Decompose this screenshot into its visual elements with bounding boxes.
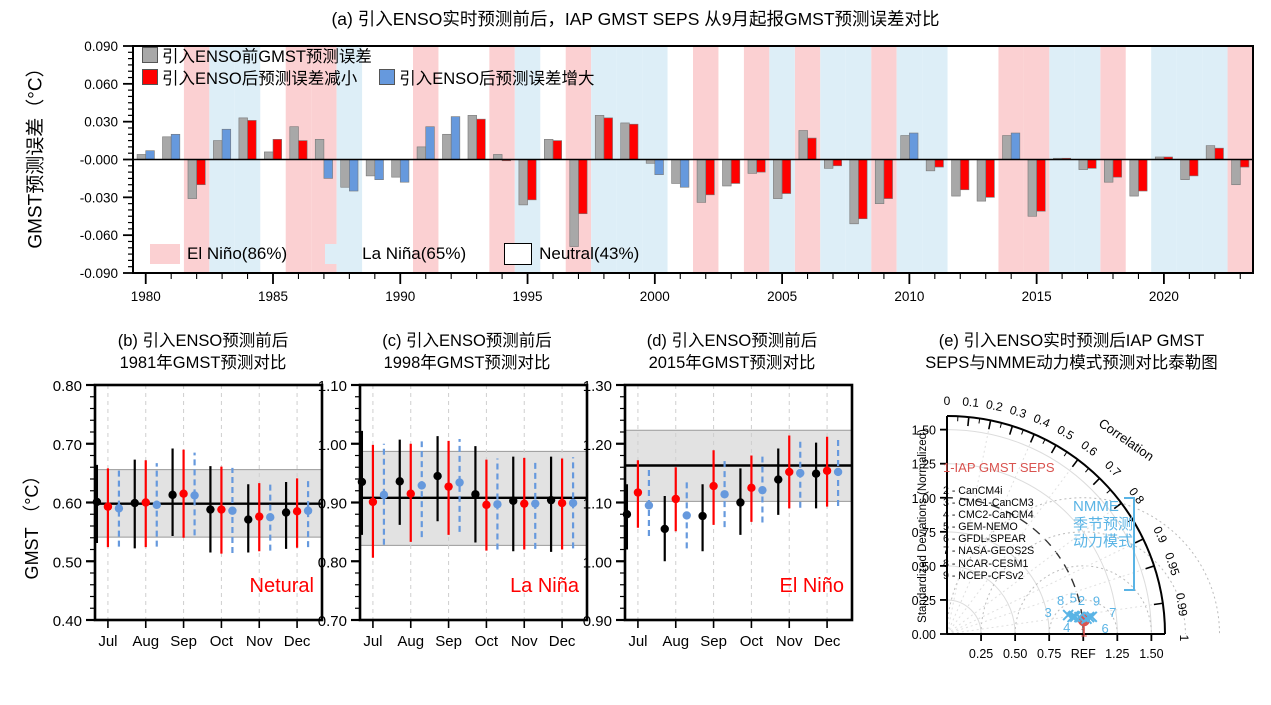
model-item: 6 - GFDL-SPEAR [943, 533, 1034, 545]
corr-tick-label: 0 [944, 394, 951, 408]
model-item: 3 - CMC1-CanCM3 [943, 497, 1034, 509]
bar-after [222, 129, 231, 159]
bar-after [273, 139, 282, 159]
bar-after [146, 151, 155, 160]
data-point [380, 491, 388, 499]
bar-after [884, 160, 893, 199]
bar-after [400, 160, 409, 183]
data-point [190, 491, 198, 499]
bar-before [290, 127, 299, 160]
data-point [444, 482, 452, 490]
y-tick-label: 1.00 [583, 554, 612, 571]
panel-b-title-line2: 1981年GMST预测对比 [78, 352, 328, 374]
y-tick-label: 1.10 [583, 496, 612, 513]
data-point [698, 512, 706, 520]
bar-after [655, 160, 664, 175]
corr-tick-label: 0.2 [985, 397, 1004, 414]
bar-after [1189, 160, 1198, 176]
panel-c-title-line2: 1998年GMST预测对比 [342, 352, 592, 374]
taylor-point-label: 1 [1080, 624, 1087, 639]
data-point [266, 513, 274, 521]
bar-after [909, 133, 918, 159]
bar-before [544, 139, 553, 159]
bar-before [188, 160, 197, 199]
y-tick-label: 1.10 [318, 378, 347, 395]
bar-after [833, 160, 842, 166]
y-tick-label: 1.00 [318, 437, 347, 454]
x-tick-label: Oct [475, 633, 499, 650]
x-tick-label: 1980 [131, 289, 161, 304]
data-point [509, 497, 517, 505]
panel-e-title-line2: SEPS与NMME动力模式预测对比泰勒图 [872, 352, 1271, 374]
y-tick-label: -0.060 [80, 228, 118, 243]
bar-before [213, 141, 222, 160]
taylor-point-label: 5 [1070, 591, 1077, 606]
legend-label-neutral: Neutral(43%) [539, 244, 639, 264]
bar-before [850, 160, 859, 224]
bar-before [1206, 146, 1215, 160]
corr-tick-label: 0.3 [1008, 403, 1028, 421]
bar-before [595, 115, 604, 159]
corr-tick-label: 0.99 [1173, 592, 1190, 617]
legend-label-reduced: 引入ENSO后预测误差减小 [162, 65, 357, 89]
legend-swatch-elnino [150, 244, 180, 264]
bar-after [604, 118, 613, 160]
y-tick-label: 0.030 [84, 115, 118, 130]
bar-after [477, 119, 486, 159]
legend-swatch-increased [379, 69, 395, 85]
bar-after [782, 160, 791, 194]
data-point [493, 500, 501, 508]
nmme-line3: 动力模式 [1073, 533, 1133, 551]
data-point [396, 477, 404, 485]
radial-tick-label: 1.50 [1139, 647, 1163, 661]
bar-before [723, 160, 732, 186]
x-tick-label: Oct [210, 633, 234, 650]
data-point [796, 469, 804, 477]
panel-e-taylor-diagram: 1.501.251.000.750.500.250.000.250.500.75… [872, 372, 1271, 672]
bar-after [375, 160, 384, 180]
data-point [255, 512, 263, 520]
corr-tick-label: 0.5 [1055, 423, 1077, 444]
corr-tick-label: 0.7 [1102, 458, 1124, 480]
radial-tick-label: REF [1071, 647, 1096, 661]
data-point [812, 470, 820, 478]
taylor-point-label: 6 [1101, 621, 1108, 636]
data-point [168, 491, 176, 499]
bar-before [443, 134, 452, 159]
bar-before [1181, 160, 1190, 180]
y-tick-label: 0.60 [53, 496, 82, 513]
y-tick-label: 0.70 [318, 613, 347, 630]
bar-before [1079, 160, 1088, 170]
bar-before [697, 160, 706, 203]
panel-e-ylabel: Standardized Deviations (Normalized) [917, 416, 929, 636]
data-point [774, 475, 782, 483]
panel-d-title: (d) 引入ENSO预测前后 2015年GMST预测对比 [607, 330, 857, 374]
radial-tick-label: 0.75 [1037, 647, 1061, 661]
y-tick-label: 0.80 [318, 554, 347, 571]
panel-e-highlight-label: 1-IAP GMST SEPS [943, 460, 1055, 475]
radial-tick-label: 1.25 [1105, 647, 1129, 661]
data-point [153, 501, 161, 509]
y-tick-label: 0.50 [53, 554, 82, 571]
y-tick-label: -0.000 [80, 153, 118, 168]
data-point [293, 507, 301, 515]
taylor-point-label: 2 [1078, 593, 1085, 608]
x-tick-label: Jul [98, 633, 117, 650]
bar-before [239, 118, 248, 160]
bar-before [1028, 160, 1037, 217]
data-point [758, 486, 766, 494]
correlation-axis-label: Correlation [1096, 415, 1157, 464]
y-tick-label: 0.90 [583, 613, 612, 630]
bar-before [672, 160, 681, 184]
bar-before [1104, 160, 1113, 183]
corr-tick-label: 0.1 [962, 394, 980, 410]
data-point [115, 504, 123, 512]
data-point [720, 490, 728, 498]
y-tick-label: 0.40 [53, 613, 82, 630]
bar-after [298, 141, 307, 160]
data-point [520, 499, 528, 507]
x-tick-label: 2005 [767, 289, 797, 304]
data-point [672, 495, 680, 503]
x-tick-label: Aug [662, 633, 689, 650]
bar-before [315, 139, 324, 159]
taylor-point-label: 7 [1109, 605, 1116, 620]
x-tick-label: 1990 [385, 289, 415, 304]
x-tick-label: Nov [776, 633, 803, 650]
bar-after [629, 124, 638, 159]
corr-tick-label: 0.6 [1078, 438, 1100, 459]
bar-after [1088, 160, 1097, 169]
data-point [736, 498, 744, 506]
legend-swatch-before [142, 47, 158, 63]
bar-before [1130, 160, 1139, 197]
y-tick-label: 0.80 [53, 378, 82, 395]
data-point [661, 525, 669, 533]
bar-after [528, 160, 537, 200]
panel-d-chart: 1.301.201.101.000.90JulAugSepOctNovDecEl… [570, 375, 860, 675]
y-tick-label: -0.030 [80, 190, 118, 205]
bar-before [799, 130, 808, 159]
bar-after [197, 160, 206, 185]
data-point [418, 481, 426, 489]
panel-c-chart: 1.101.000.900.800.70JulAugSepOctNovDecLa… [305, 375, 595, 675]
bar-before [621, 123, 630, 160]
std-arc [947, 600, 981, 634]
bar-after [706, 160, 715, 195]
panel-a-legend-bottom: El Niño(86%) La Niña(65%) Neutral(43%) [150, 243, 639, 265]
panel-d-title-line2: 2015年GMST预测对比 [607, 352, 857, 374]
panel-d-title-line1: (d) 引入ENSO预测前后 [607, 330, 857, 352]
bar-after [553, 141, 562, 160]
bar-after [171, 134, 180, 159]
bar-after [757, 160, 766, 173]
x-tick-label: Dec [814, 633, 841, 650]
bar-after [1113, 160, 1122, 178]
taylor-point-label: 9 [1093, 594, 1100, 609]
x-tick-label: 2000 [640, 289, 670, 304]
panel-c-title-line1: (c) 引入ENSO预测前后 [342, 330, 592, 352]
data-point [482, 501, 490, 509]
panel-e-model-list: 2 - CanCM4i 3 - CMC1-CanCM3 4 - CMC2-Can… [943, 485, 1034, 582]
panel-c-title: (c) 引入ENSO预测前后 1998年GMST预测对比 [342, 330, 592, 374]
bar-before [417, 147, 426, 160]
x-tick-label: Sep [170, 633, 197, 650]
corr-tick-label: 0.9 [1150, 524, 1170, 545]
bar-before [163, 137, 172, 160]
data-point [179, 489, 187, 497]
bar-after [1011, 133, 1020, 159]
data-point [634, 488, 642, 496]
y-tick-label: -0.090 [80, 266, 118, 281]
radial-tick-label: 0.50 [1003, 647, 1027, 661]
bar-before [977, 160, 986, 202]
model-item: 9 - NCEP-CFSv2 [943, 570, 1034, 582]
nmme-line2: 季节预测 [1073, 516, 1133, 534]
bar-before [748, 160, 757, 174]
bar-after [680, 160, 689, 188]
panel-e-title-line1: (e) 引入ENSO实时预测后IAP GMST [872, 330, 1271, 352]
x-tick-label: Aug [132, 633, 159, 650]
bar-after [426, 127, 435, 160]
bar-after [731, 160, 740, 184]
bar-before [824, 160, 833, 169]
bar-after [324, 160, 333, 179]
legend-swatch-reduced [142, 69, 158, 85]
bar-after [986, 160, 995, 198]
panel-b-title-line1: (b) 引入ENSO预测前后 [78, 330, 328, 352]
legend-label-elnino: El Niño(86%) [187, 244, 287, 264]
bar-before [468, 115, 477, 159]
corr-tick-label: 0.4 [1031, 411, 1052, 431]
bar-after [1215, 148, 1224, 159]
x-tick-label: Sep [700, 633, 727, 650]
x-tick-label: Oct [740, 633, 764, 650]
model-item: 2 - CanCM4i [943, 485, 1034, 497]
bar-before [773, 160, 782, 199]
x-tick-label: Nov [246, 633, 273, 650]
data-point [217, 505, 225, 513]
x-tick-label: 2020 [1149, 289, 1179, 304]
corr-tick-label: 0.95 [1162, 551, 1183, 578]
data-point [785, 468, 793, 476]
data-point [244, 515, 252, 523]
y-tick-label: 0.90 [318, 496, 347, 513]
data-point [471, 490, 479, 498]
y-tick-label: 0.70 [53, 437, 82, 454]
bar-after [1240, 160, 1249, 168]
x-tick-label: Jul [628, 633, 647, 650]
bar-before [926, 160, 935, 171]
panel-e-title: (e) 引入ENSO实时预测后IAP GMST SEPS与NMME动力模式预测对… [872, 330, 1271, 374]
bar-after [248, 120, 257, 159]
y-tick-label: 0.090 [84, 39, 118, 54]
data-point [747, 484, 755, 492]
x-tick-label: Jul [363, 633, 382, 650]
enso-phase-annotation: El Niño [780, 575, 844, 597]
bar-after [451, 117, 460, 160]
data-point [531, 499, 539, 507]
data-point [645, 501, 653, 509]
x-tick-label: Sep [435, 633, 462, 650]
x-tick-label: 1985 [258, 289, 288, 304]
data-point [547, 496, 555, 504]
y-tick-label: 0.060 [84, 77, 118, 92]
taylor-point-label: 3 [1045, 605, 1052, 620]
data-point [433, 472, 441, 480]
bar-after [578, 160, 587, 214]
bar-before [392, 160, 401, 178]
radial-tick-label: 0.25 [969, 647, 993, 661]
panel-e-nmme-annotation: NMME 季节预测 动力模式 [1073, 498, 1133, 551]
bar-before [875, 160, 884, 204]
data-point [282, 508, 290, 516]
data-point [369, 498, 377, 506]
bar-before [952, 160, 961, 197]
panel-a-ylabel: GMST预测误差（°C） [21, 34, 48, 274]
bar-before [519, 160, 528, 205]
bar-before [264, 152, 273, 160]
corr-tick-label: 1 [1177, 635, 1191, 642]
nmme-line1: NMME [1073, 498, 1133, 516]
data-point [104, 502, 112, 510]
taylor-point-label: 4 [1063, 620, 1070, 635]
data-point [407, 489, 415, 497]
data-point [455, 478, 463, 486]
bar-after [349, 160, 358, 192]
data-point [709, 482, 717, 490]
bar-before [901, 136, 910, 160]
bar-before [341, 160, 350, 188]
bar-after [1037, 160, 1046, 212]
bar-before [1003, 136, 1012, 160]
bar-before [1232, 160, 1241, 185]
x-tick-label: Aug [397, 633, 424, 650]
taylor-point-label: 8 [1057, 593, 1064, 608]
panel-b-chart: 0.800.700.600.500.40JulAugSepOctNovDecNe… [40, 375, 330, 675]
y-tick-label: 1.30 [583, 378, 612, 395]
model-item: 8 - NCAR-CESM1 [943, 558, 1034, 570]
bar-after [960, 160, 969, 190]
data-point [228, 507, 236, 515]
legend-label-increased: 引入ENSO后预测误差增大 [399, 65, 594, 89]
y-tick-label: 1.20 [583, 437, 612, 454]
data-point [558, 499, 566, 507]
bar-after [858, 160, 867, 219]
model-item: 5 - GEM-NEMO [943, 521, 1034, 533]
model-item: 4 - CMC2-CanCM4 [943, 509, 1034, 521]
panel-a-legend-top: 引入ENSO前GMST预测误差 引入ENSO后预测误差减小 引入ENSO后预测误… [142, 44, 595, 88]
data-point [683, 511, 691, 519]
bar-before [570, 160, 579, 247]
legend-swatch-neutral [504, 243, 532, 265]
x-tick-label: 1995 [513, 289, 543, 304]
data-point [131, 499, 139, 507]
bar-after [935, 160, 944, 168]
x-tick-label: 2015 [1022, 289, 1052, 304]
data-point [834, 468, 842, 476]
bar-before [366, 160, 375, 176]
legend-label-before: 引入ENSO前GMST预测误差 [162, 43, 372, 67]
x-tick-label: Nov [511, 633, 538, 650]
data-point [206, 505, 214, 513]
bar-after [808, 138, 817, 159]
bar-after [1138, 160, 1147, 192]
legend-swatch-lanina [325, 244, 355, 264]
data-point [823, 467, 831, 475]
data-point [142, 498, 150, 506]
panel-b-title: (b) 引入ENSO预测前后 1981年GMST预测对比 [78, 330, 328, 374]
legend-label-lanina: La Niña(65%) [362, 244, 466, 264]
x-tick-label: 2010 [894, 289, 924, 304]
model-item: 7 - NASA-GEOS2S [943, 545, 1034, 557]
